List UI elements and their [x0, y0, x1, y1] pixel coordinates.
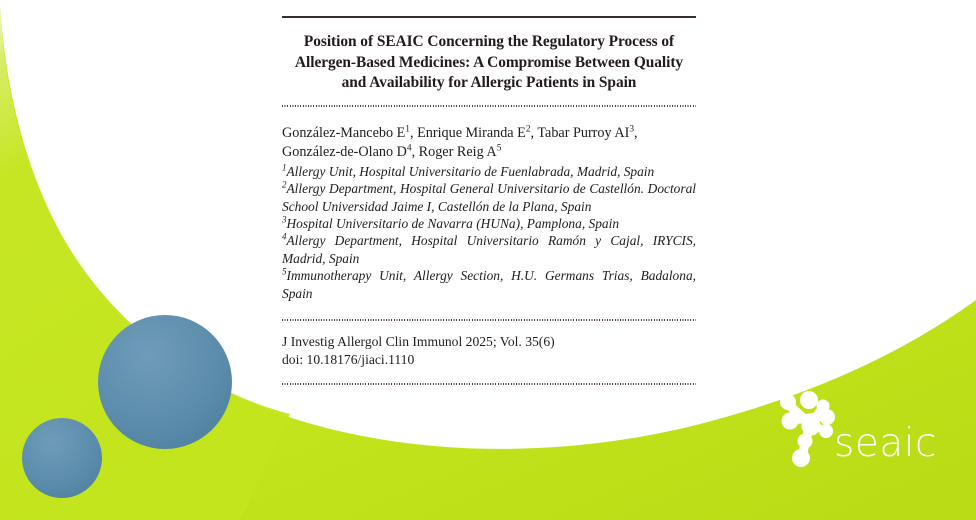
decorative-circle-small: [22, 418, 102, 498]
author-marker-5: 5: [497, 143, 502, 153]
affiliation-text-2: Allergy Department, Hospital General Uni…: [282, 181, 696, 213]
author-sep-3: ,: [634, 125, 638, 141]
affiliation-item: 2Allergy Department, Hospital General Un…: [282, 180, 696, 215]
doi-line[interactable]: doi: 10.18176/jiaci.1110: [282, 351, 696, 369]
author-name-2: Enrique Miranda E: [417, 125, 526, 141]
journal-citation: J Investig Allergol Clin Immunol 2025; V…: [282, 333, 696, 351]
affiliation-list: 1Allergy Unit, Hospital Universitario de…: [282, 163, 696, 302]
top-divider-rule: [282, 16, 696, 18]
title-divider-dotted: [282, 105, 696, 108]
author-name-1: González-Mancebo E: [282, 125, 405, 141]
author-name-5: Roger Reig A: [419, 144, 497, 160]
affiliation-item: 5Immunotherapy Unit, Allergy Section, H.…: [282, 267, 696, 302]
affiliation-item: 3Hospital Universitario de Navarra (HUNa…: [282, 215, 696, 232]
affiliation-item: 4Allergy Department, Hospital Universita…: [282, 232, 696, 267]
affiliation-text-3: Hospital Universitario de Navarra (HUNa)…: [287, 216, 620, 231]
affiliation-text-5: Immunotherapy Unit, Allergy Section, H.U…: [282, 268, 696, 300]
seaic-molecule-mark: [778, 386, 842, 472]
bottom-divider-dotted: [282, 382, 696, 385]
affiliations-divider-dotted: [282, 318, 696, 321]
seaic-wordmark: seaic: [834, 424, 937, 463]
author-name-3: Tabar Purroy AI: [537, 125, 629, 141]
seaic-logo: seaic: [778, 386, 968, 486]
author-name-4: González-de-Olano D: [282, 144, 407, 160]
page-title: Position of SEAIC Concerning the Regulat…: [282, 32, 696, 94]
affiliation-item: 1Allergy Unit, Hospital Universitario de…: [282, 163, 696, 180]
article-metadata-card: Position of SEAIC Concerning the Regulat…: [282, 16, 696, 385]
affiliation-text-1: Allergy Unit, Hospital Universitario de …: [287, 164, 655, 179]
author-list: González-Mancebo E1, Enrique Miranda E2,…: [282, 124, 696, 162]
citation-block: J Investig Allergol Clin Immunol 2025; V…: [282, 333, 696, 368]
author-sep-4: ,: [412, 144, 419, 160]
author-sep-1: ,: [410, 125, 417, 141]
article-cover-page: Position of SEAIC Concerning the Regulat…: [0, 0, 976, 520]
decorative-circle-large: [98, 315, 232, 449]
affiliation-text-4: Allergy Department, Hospital Universitar…: [282, 233, 696, 265]
